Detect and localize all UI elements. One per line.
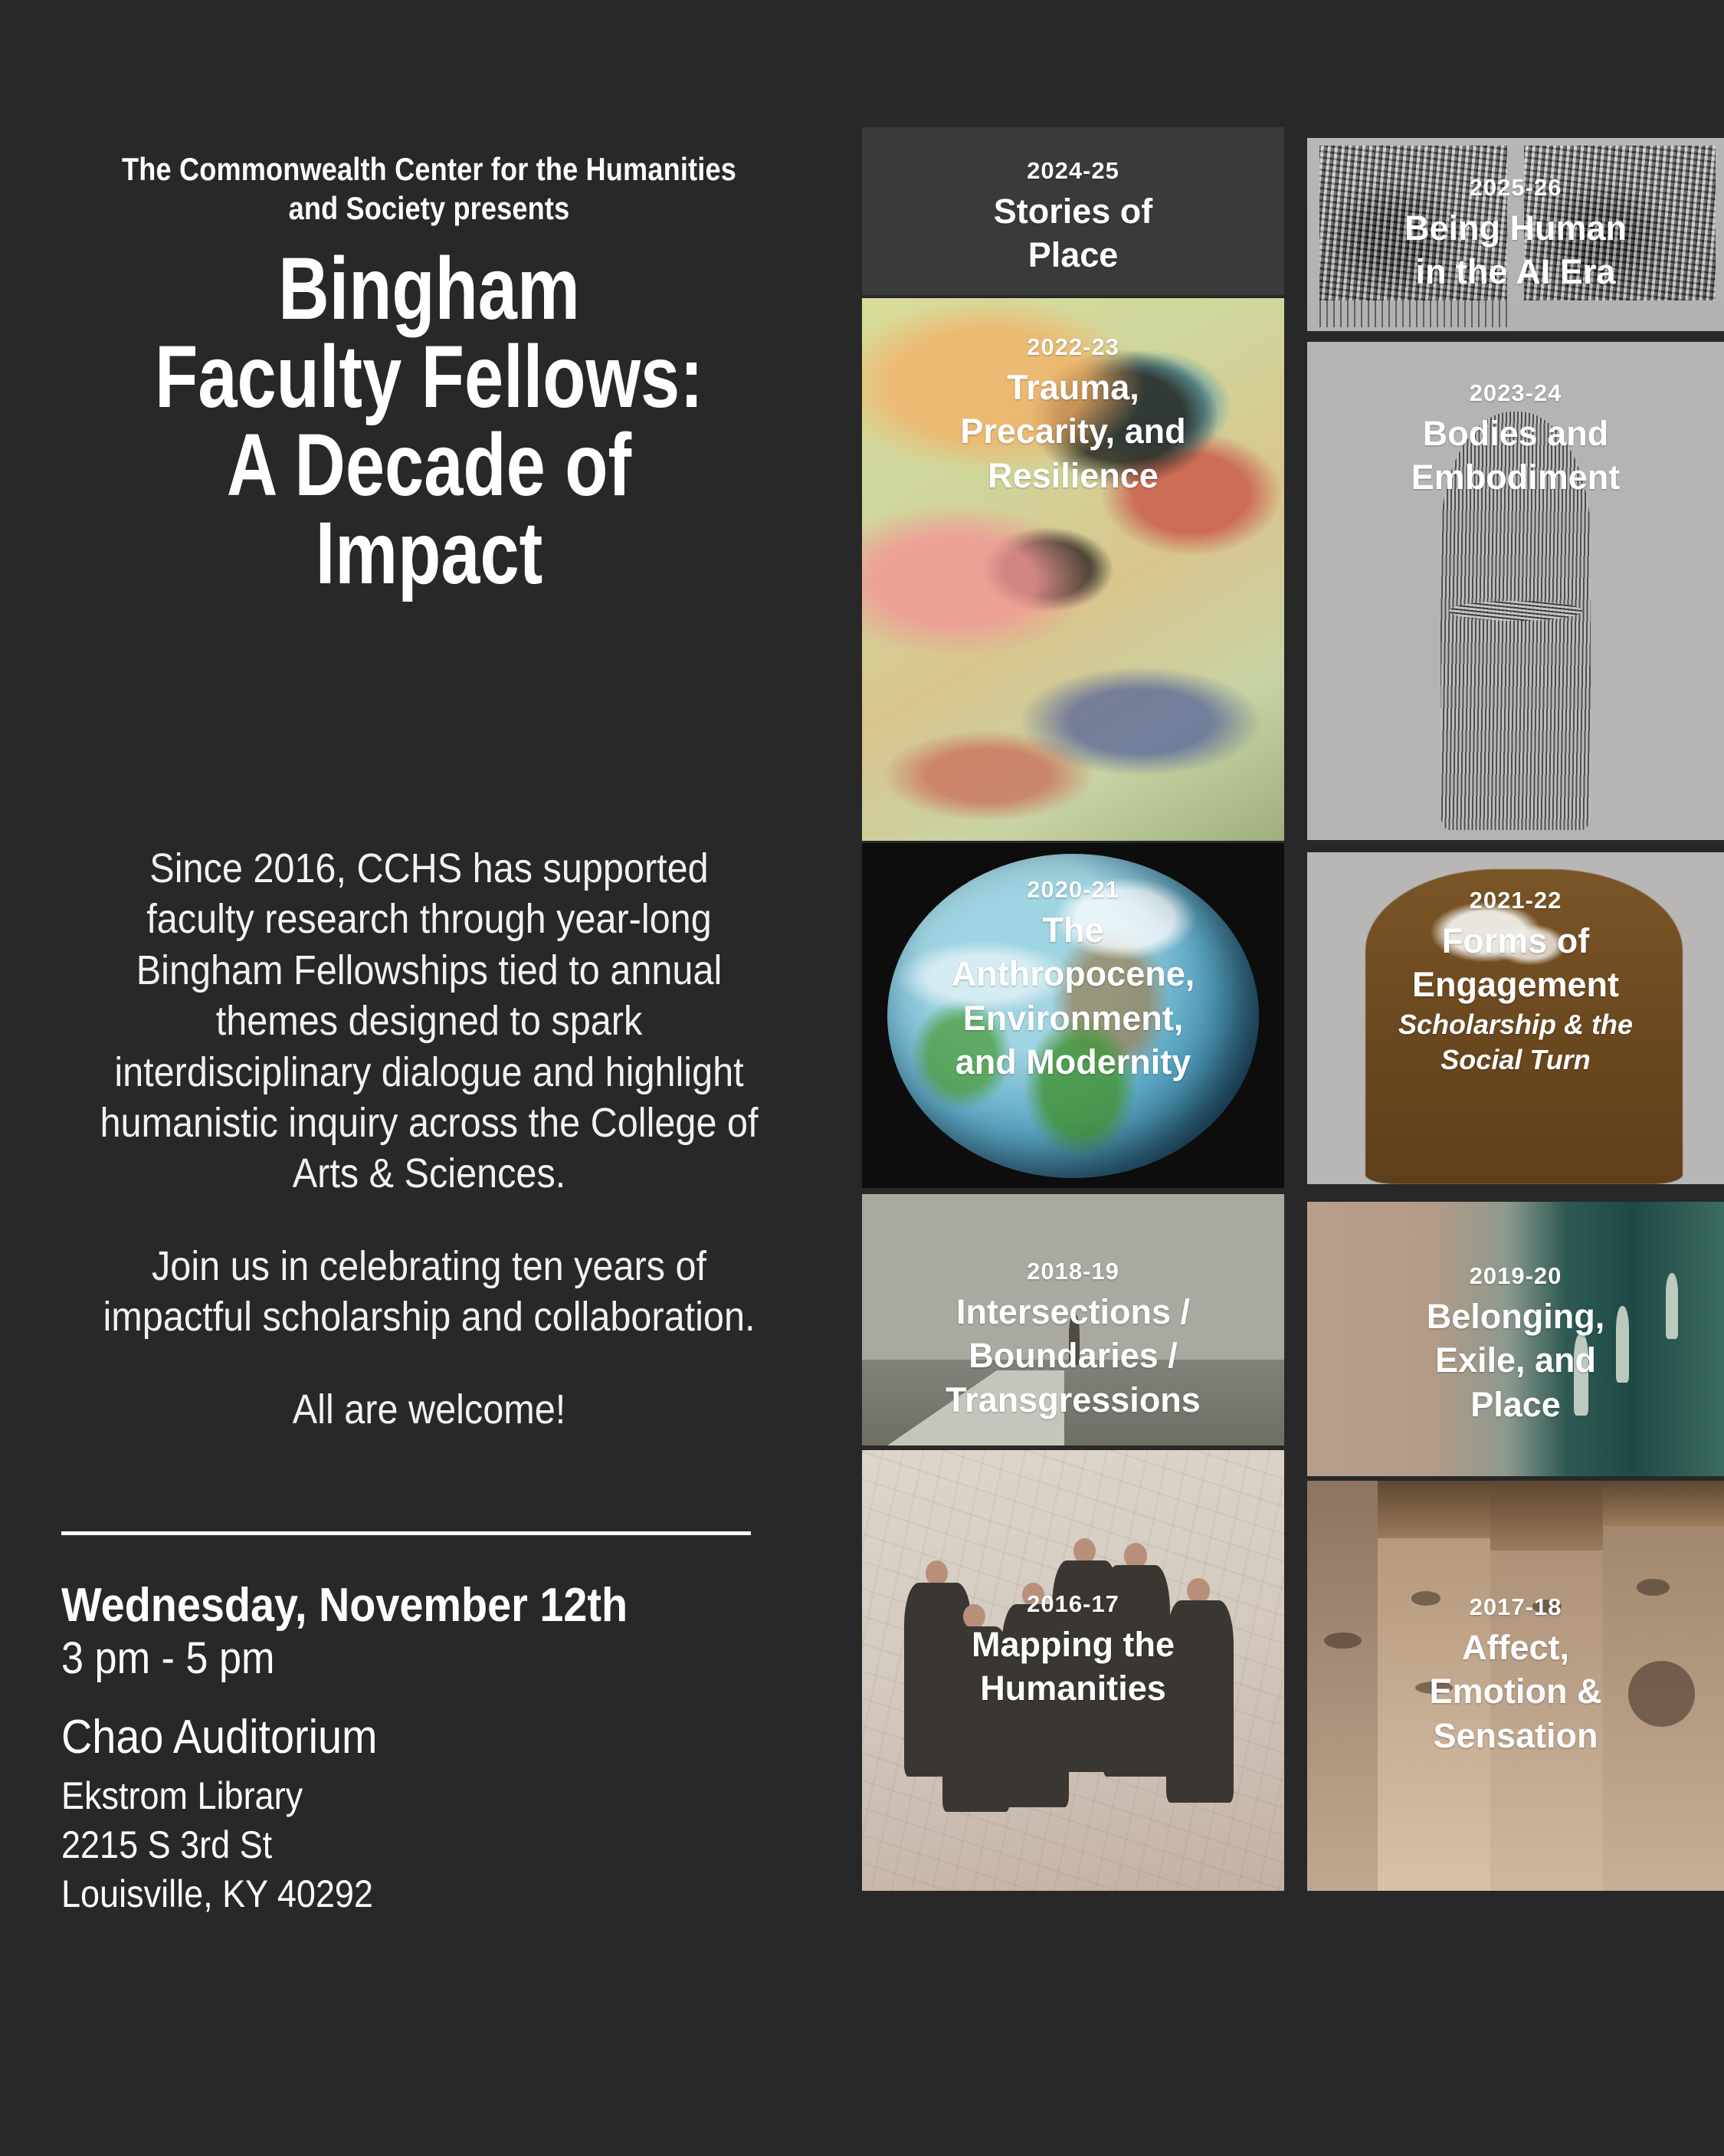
tile-year: 2023-24 [1315, 376, 1716, 412]
tile-title-line: Bodies and [1315, 412, 1716, 456]
tile-year: 2022-23 [870, 330, 1277, 366]
tile-title-line: Boundaries / [870, 1334, 1277, 1378]
page-title: Bingham Faculty Fellows: A Decade of Imp… [110, 245, 748, 598]
tile-year: 2020-21 [870, 872, 1277, 908]
tile-year: 2018-19 [870, 1254, 1277, 1290]
tile-title-line: Trauma, [870, 366, 1277, 410]
tile-title-line: Being Human [1315, 206, 1716, 251]
theme-tile-2025-26[interactable]: 2025-26 Being Human in the AI Era [1307, 138, 1724, 331]
event-building: Ekstrom Library [61, 1771, 751, 1820]
tile-title-line: Mapping the [870, 1623, 1277, 1667]
poster-canvas: The Commonwealth Center for the Humaniti… [0, 0, 1724, 2156]
tile-year: 2016-17 [870, 1587, 1277, 1623]
event-details: Wednesday, November 12th 3 pm - 5 pm Cha… [61, 1579, 751, 1918]
description-paragraph-1: Since 2016, CCHS has supported faculty r… [91, 843, 767, 1199]
theme-tile-2020-21[interactable]: 2020-21 The Anthropocene, Environment, a… [862, 843, 1284, 1188]
fiber-bundle-tie [1449, 601, 1582, 621]
left-column: The Commonwealth Center for the Humaniti… [0, 0, 858, 2156]
title-line-2: Faculty Fellows: [110, 333, 748, 422]
tile-title-line: Stories of [870, 189, 1277, 234]
presenter-line-2: and Society presents [100, 189, 759, 228]
tile-title-line: in the AI Era [1315, 250, 1716, 294]
tile-title-line: Humanities [870, 1666, 1277, 1711]
tile-title-line: Sensation [1315, 1714, 1716, 1758]
horizontal-rule [61, 1531, 751, 1535]
tile-title-line: The [870, 908, 1277, 953]
diptych-drip-texture [1319, 300, 1507, 327]
tile-title-line: Exile, and [1315, 1338, 1716, 1383]
tile-title-line: Embodiment [1315, 455, 1716, 500]
title-line-1: Bingham [110, 245, 748, 333]
presenter-line-1: The Commonwealth Center for the Humaniti… [100, 149, 759, 189]
tile-title-line: Precarity, and [870, 409, 1277, 454]
theme-tile-2019-20[interactable]: 2019-20 Belonging, Exile, and Place [1307, 1202, 1724, 1476]
tile-year: 2019-20 [1315, 1258, 1716, 1295]
event-time: 3 pm - 5 pm [61, 1632, 751, 1686]
tile-title-line: Transgressions [870, 1378, 1277, 1423]
face-hair [1490, 1481, 1603, 1551]
tile-year: 2024-25 [870, 153, 1277, 189]
title-line-3: A Decade of [110, 422, 748, 510]
tile-title-line: Intersections / [870, 1290, 1277, 1334]
tile-title-line: Anthropocene, [870, 952, 1277, 996]
event-street: 2215 S 3rd St [61, 1820, 751, 1869]
theme-tile-2022-23[interactable]: 2022-23 Trauma, Precarity, and Resilienc… [862, 298, 1284, 841]
theme-tile-2016-17[interactable]: 2016-17 Mapping the Humanities [862, 1450, 1284, 1891]
theme-tile-2017-18[interactable]: 2017-18 Affect, Emotion & Sensation [1307, 1481, 1724, 1891]
tile-title-line: Forms of [1315, 919, 1716, 963]
theme-tile-2018-19[interactable]: 2018-19 Intersections / Boundaries / Tra… [862, 1194, 1284, 1446]
tile-title-line: Place [870, 233, 1277, 277]
tile-subtitle-line: Scholarship & the [1315, 1007, 1716, 1043]
tile-title-line: Belonging, [1315, 1295, 1716, 1339]
theme-tile-2021-22[interactable]: 2021-22 Forms of Engagement Scholarship … [1307, 852, 1724, 1184]
description-paragraph-3: All are welcome! [91, 1384, 767, 1435]
tile-title-line: Affect, [1315, 1626, 1716, 1670]
tile-title-line: and Modernity [870, 1040, 1277, 1085]
presenter-line: The Commonwealth Center for the Humaniti… [100, 149, 759, 228]
title-line-4: Impact [110, 510, 748, 598]
tile-title-line: Place [1315, 1383, 1716, 1427]
tile-year: 2021-22 [1315, 883, 1716, 919]
event-city: Louisville, KY 40292 [61, 1869, 751, 1918]
theme-tile-2023-24[interactable]: 2023-24 Bodies and Embodiment [1307, 342, 1724, 840]
tile-title-line: Environment, [870, 996, 1277, 1041]
theme-grid: 2024-25 Stories of Place 2025-26 Being H… [862, 0, 1724, 2156]
tile-title-line: Engagement [1315, 963, 1716, 1007]
theme-tile-2024-25[interactable]: 2024-25 Stories of Place [862, 127, 1284, 295]
tile-year: 2025-26 [1315, 170, 1716, 206]
description-paragraph-2: Join us in celebrating ten years of impa… [91, 1241, 767, 1343]
event-date: Wednesday, November 12th [61, 1579, 751, 1632]
tile-title-line: Emotion & [1315, 1669, 1716, 1714]
description-block: Since 2016, CCHS has supported faculty r… [91, 843, 767, 1435]
event-venue: Chao Auditorium [61, 1709, 751, 1766]
face-hair [1603, 1481, 1724, 1526]
tile-subtitle-line: Social Turn [1315, 1042, 1716, 1078]
tile-title-line: Resilience [870, 454, 1277, 498]
face-hair [1378, 1481, 1490, 1538]
tile-year: 2017-18 [1315, 1590, 1716, 1626]
